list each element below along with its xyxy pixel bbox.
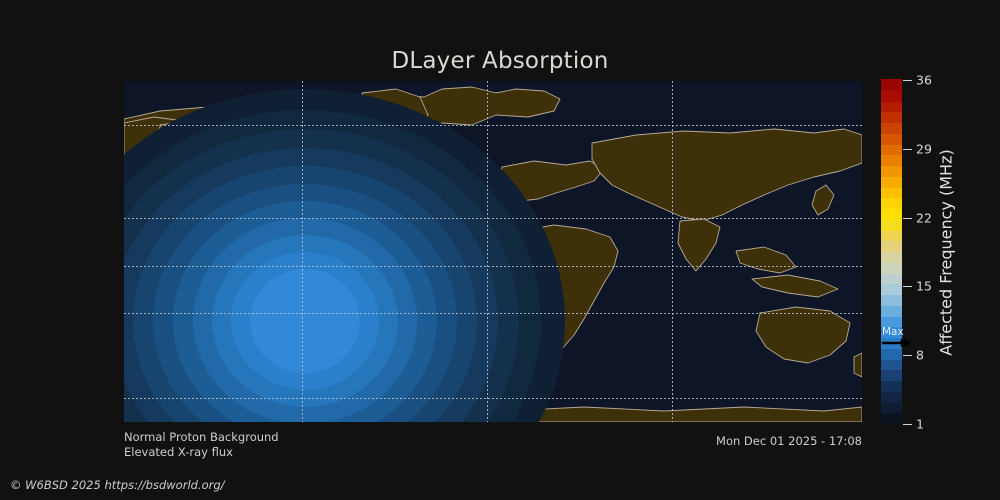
colorbar-band (881, 284, 902, 295)
page-title: DLayer Absorption (0, 48, 1000, 74)
colorbar-band (881, 380, 902, 391)
colorbar-tick-label: 15 (916, 279, 932, 294)
colorbar-band (881, 198, 902, 209)
copyright-footer: © W6BSD 2025 https://bsdworld.org/ (10, 478, 225, 492)
colorbar-band (881, 359, 902, 370)
colorbar-band (881, 413, 902, 424)
colorbar-tick (903, 355, 912, 356)
colorbar-band (881, 165, 902, 176)
colorbar-axis-label-text: Affected Frequency (MHz) (937, 149, 956, 355)
colorbar-band (881, 79, 902, 90)
colorbar-band (881, 391, 902, 402)
colorbar-band (881, 305, 902, 316)
max-marker-label: Max (882, 327, 904, 338)
colorbar-band (881, 187, 902, 198)
colorbar-band (881, 230, 902, 241)
colorbar-band (881, 90, 902, 101)
colorbar-band (881, 241, 902, 252)
arrow-right-icon (882, 339, 910, 347)
world-map[interactable] (124, 81, 862, 422)
colorbar-tick-label: 29 (916, 141, 932, 156)
colorbar-tick (903, 286, 912, 287)
colorbar-tick-label: 8 (916, 348, 924, 363)
colorbar-tick (903, 149, 912, 150)
colorbar-tick (903, 80, 912, 81)
colorbar-tick (903, 424, 912, 425)
colorbar-band (881, 208, 902, 219)
colorbar-band (881, 176, 902, 187)
colorbar-band (881, 133, 902, 144)
colorbar-band (881, 273, 902, 284)
map-landmasses (124, 81, 862, 422)
colorbar-max-marker: Max (882, 327, 942, 351)
colorbar-band (881, 112, 902, 123)
colorbar-band (881, 144, 902, 155)
colorbar-band (881, 294, 902, 305)
colorbar-tick-label: 1 (916, 417, 924, 432)
colorbar-axis-label: Affected Frequency (MHz) (935, 80, 957, 424)
colorbar-tick (903, 218, 912, 219)
colorbar-band (881, 219, 902, 230)
colorbar-band (881, 262, 902, 273)
timestamp: Mon Dec 01 2025 - 17:08 (0, 434, 862, 448)
app-root: DLayer Absorption (0, 0, 1000, 500)
colorbar-band (881, 155, 902, 166)
colorbar-band (881, 101, 902, 112)
colorbar-tick-label: 22 (916, 210, 932, 225)
colorbar[interactable]: Max 3629221581 (881, 80, 902, 424)
colorbar-band (881, 370, 902, 381)
colorbar-band (881, 402, 902, 413)
colorbar-gradient (881, 80, 902, 424)
colorbar-tick-label: 36 (916, 73, 932, 88)
colorbar-band (881, 122, 902, 133)
colorbar-band (881, 251, 902, 262)
